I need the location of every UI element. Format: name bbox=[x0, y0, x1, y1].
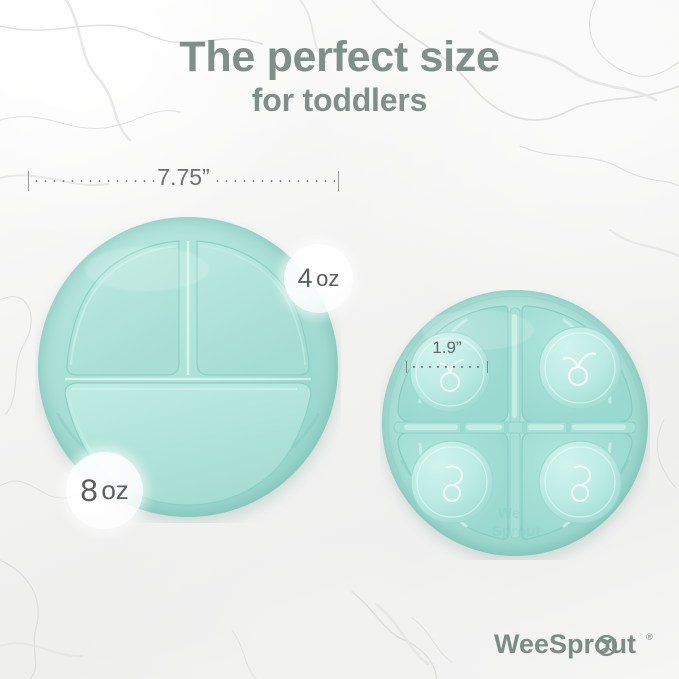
headline-line-1: The perfect size bbox=[0, 36, 679, 80]
capacity-badge-4oz-unit: oz bbox=[316, 266, 339, 292]
weesprout-logo: WeeSprout ® bbox=[494, 626, 664, 664]
headline-line-2: for toddlers bbox=[0, 80, 679, 122]
dimension-dotted-line-right bbox=[213, 180, 335, 182]
dimension-end-cap-left bbox=[28, 171, 29, 191]
capacity-badge-8oz-value: 8 bbox=[80, 472, 98, 509]
capacity-badge-4oz: 4 oz bbox=[284, 244, 353, 313]
plate-width-dimension: 7.75” bbox=[28, 168, 339, 194]
plate-width-label: 7.75” bbox=[151, 164, 215, 191]
plate-top-sheen bbox=[85, 247, 209, 291]
brand-trademark: ® bbox=[646, 632, 653, 642]
suction-dimension-cap-right bbox=[487, 361, 488, 373]
capacity-badge-4oz-value: 4 bbox=[298, 263, 313, 294]
suction-cup-lower-left bbox=[411, 441, 493, 523]
product-infographic: The perfect size for toddlers 7.75” bbox=[0, 0, 679, 679]
svg-text:Sprout: Sprout bbox=[492, 523, 540, 540]
svg-text:We: We bbox=[498, 505, 520, 522]
suction-cup-lower-right bbox=[539, 441, 621, 523]
base-horizontal-channel bbox=[394, 421, 636, 434]
suction-cup-upper-right bbox=[539, 327, 621, 409]
headline-block: The perfect size for toddlers bbox=[0, 36, 679, 121]
dimension-end-cap-right bbox=[338, 171, 339, 191]
capacity-badge-8oz-unit: oz bbox=[101, 475, 128, 506]
suction-dimension-cap-left bbox=[406, 361, 407, 373]
suction-base-underside-view: We Sprout bbox=[380, 290, 650, 560]
dimension-dotted-line-left bbox=[32, 180, 156, 182]
capacity-badge-8oz: 8 oz bbox=[66, 452, 143, 529]
suction-dimension-dotted-line bbox=[410, 366, 484, 368]
suction-cup-width-dimension: 1.9” bbox=[404, 340, 490, 374]
suction-cup-width-label: 1.9” bbox=[432, 338, 461, 358]
